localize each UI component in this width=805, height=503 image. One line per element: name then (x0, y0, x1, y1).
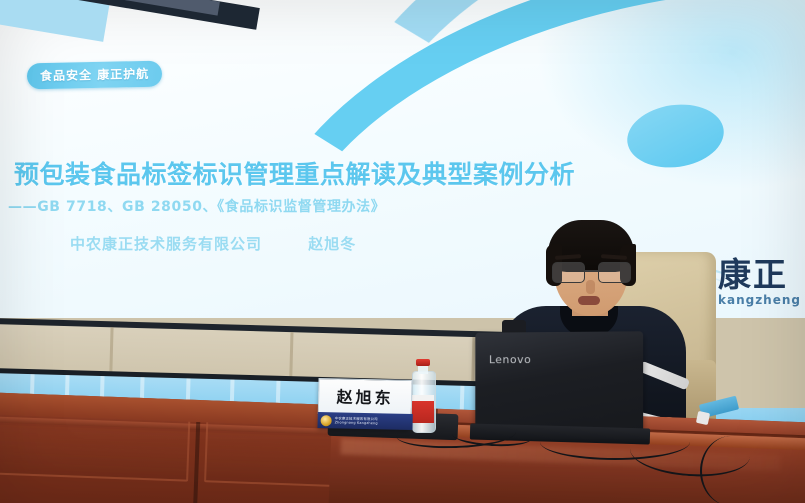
bottle-cap (416, 359, 430, 366)
water-bottle (412, 359, 434, 431)
slide-title: 预包装食品标签标识管理重点解读及典型案例分析 (14, 155, 575, 191)
glasses-icon (552, 262, 632, 282)
cable-clip (696, 411, 710, 425)
presenter-mouth (578, 296, 600, 305)
slide-company: 中农康正技术服务有限公司 (70, 235, 262, 253)
slide-byline: 中农康正技术服务有限公司 赵旭冬 (70, 233, 356, 254)
nameplate-banner-line2: Zhongnong Kangzheng (335, 420, 378, 425)
presenter-nose (586, 280, 595, 294)
room-wall-right (712, 318, 805, 408)
nameplate-banner: 中农康正技术服务有限公司 Zhongnong Kangzheng (317, 412, 412, 430)
slide-brand-logo-zh: 康正 (718, 258, 801, 291)
slide-brand-logo: 康正 kangzheng (718, 258, 801, 306)
slide-badge: 食品安全 康正护航 (27, 61, 163, 90)
slide-subtitle: ——GB 7718、GB 28050、《食品标识监督管理办法》 (8, 196, 385, 216)
slide-brand-logo-pinyin: kangzheng (718, 294, 801, 306)
desk-nameplate: 赵旭东 中农康正技术服务有限公司 Zhongnong Kangzheng (317, 378, 410, 430)
slide-speaker: 赵旭冬 (308, 235, 356, 253)
laptop-brand-label: Lenovo (489, 353, 531, 366)
national-emblem-icon (321, 415, 332, 426)
laptop-lid: Lenovo (475, 331, 643, 430)
nameplate-name: 赵旭东 (319, 383, 411, 409)
cable-4 (700, 436, 762, 503)
presentation-photo-scene: 食品安全 康正护航 预包装食品标签标识管理重点解读及典型案例分析 ——GB 77… (0, 0, 805, 503)
